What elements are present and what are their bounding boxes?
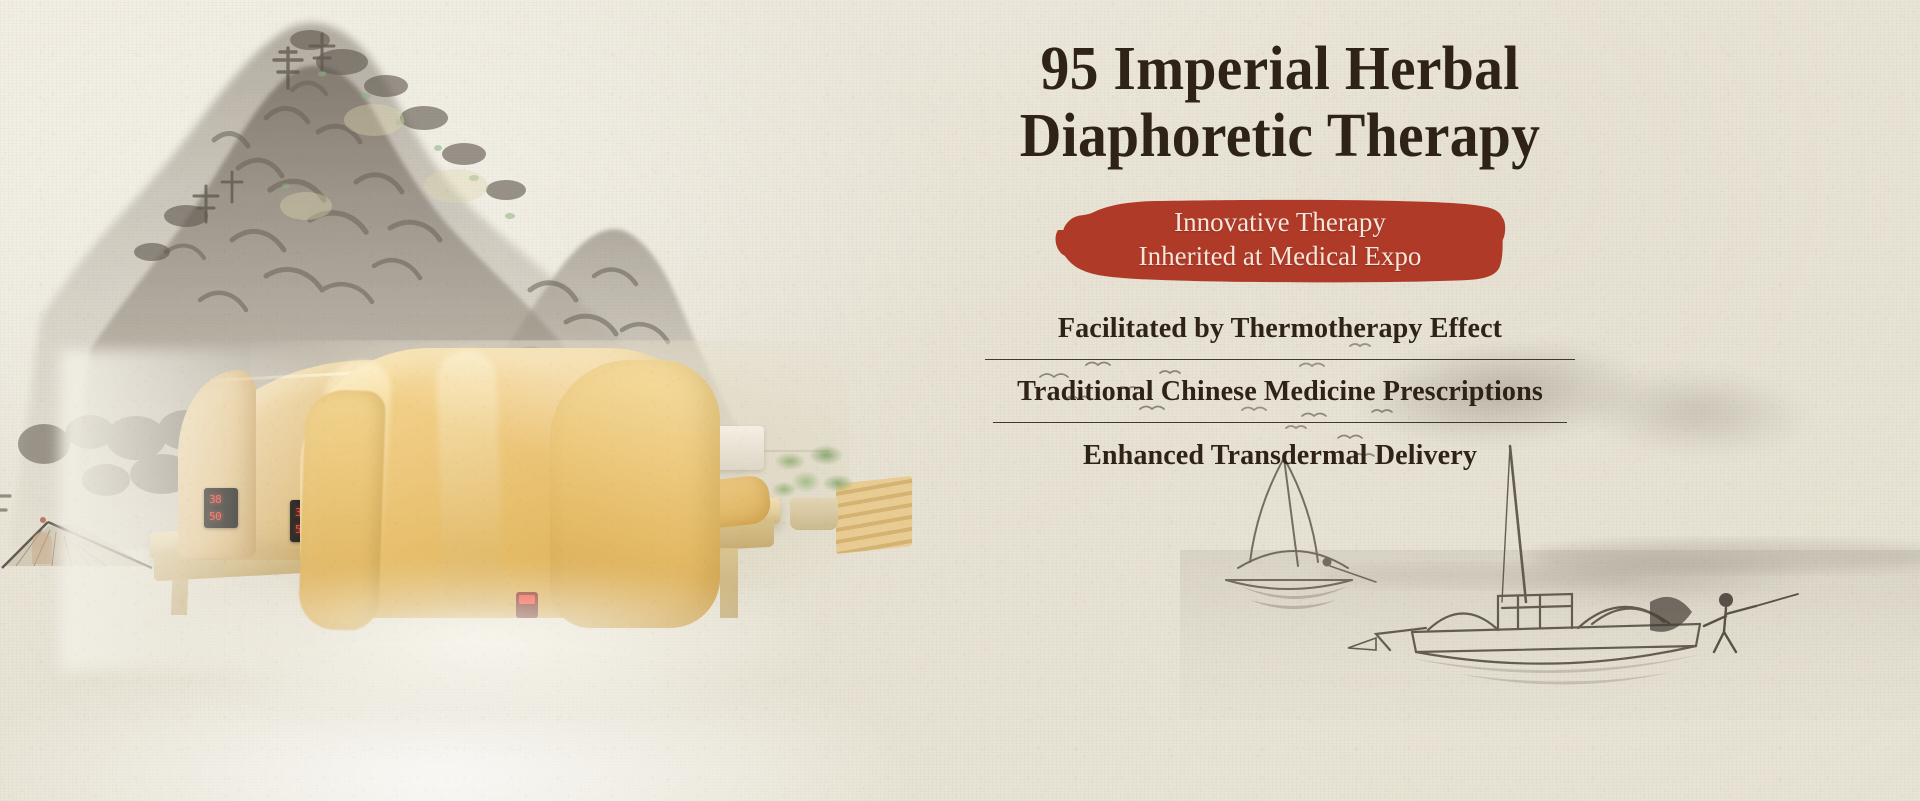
promo-brush-banner: Innovative Therapy Inherited at Medical … <box>1054 196 1506 284</box>
ink-cloud-wash-lower <box>1419 522 1892 628</box>
feature-item-tcm-prescriptions: Traditional Chinese Medicine Prescriptio… <box>970 360 1591 422</box>
headline-line-2: Diaphoretic Therapy <box>927 103 1634 170</box>
potted-plant-pot <box>790 498 838 530</box>
product-photo-herbal-steam-capsule: 38 50 38 50 <box>120 330 900 660</box>
promo-banner-text: Innovative Therapy Inherited at Medical … <box>1054 196 1506 284</box>
promo-line-2: Inherited at Medical Expo <box>1139 240 1422 273</box>
feature-item-thermotherapy: Facilitated by Thermotherapy Effect <box>970 306 1591 359</box>
promo-line-1: Innovative Therapy <box>1174 206 1386 239</box>
promotional-banner: 38 50 38 50 95 Imperial Herbal <box>0 0 1920 801</box>
feature-item-transdermal-delivery: Enhanced Transdermal Delivery <box>970 423 1591 475</box>
feature-list: Facilitated by Thermotherapy Effect Trad… <box>960 306 1600 476</box>
page-title: 95 Imperial Herbal Diaphoretic Therapy <box>927 36 1634 170</box>
banner-text-block: 95 Imperial Herbal Diaphoretic Therapy I… <box>900 36 1660 476</box>
photo-bottom-steam-fade <box>80 545 960 705</box>
headline-line-1: 95 Imperial Herbal <box>927 36 1634 103</box>
